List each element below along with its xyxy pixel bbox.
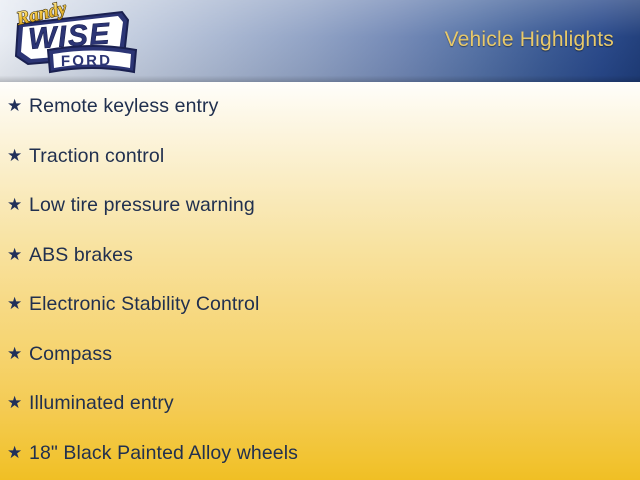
randy-wise-ford-logo[interactable]: WISE Randy FORD xyxy=(4,0,144,82)
highlight-label: Compass xyxy=(29,345,112,365)
list-item: ★ Electronic Stability Control xyxy=(0,280,640,330)
list-item: ★ Remote keyless entry xyxy=(0,82,640,132)
vehicle-highlights-list: ★ Remote keyless entry ★ Traction contro… xyxy=(0,82,640,478)
highlight-label: ABS brakes xyxy=(29,246,133,266)
list-item: ★ 18" Black Painted Alloy wheels xyxy=(0,429,640,479)
star-icon: ★ xyxy=(7,196,29,213)
page-title: Vehicle Highlights xyxy=(445,28,614,52)
highlight-label: Traction control xyxy=(29,147,164,167)
highlight-label: 18" Black Painted Alloy wheels xyxy=(29,444,298,464)
star-icon: ★ xyxy=(7,345,29,362)
star-icon: ★ xyxy=(7,295,29,312)
highlight-label: Illuminated entry xyxy=(29,394,174,414)
list-item: ★ ABS brakes xyxy=(0,231,640,281)
star-icon: ★ xyxy=(7,444,29,461)
page-header: WISE Randy FORD Vehicle Highlights xyxy=(0,0,640,82)
highlight-label: Remote keyless entry xyxy=(29,97,219,117)
list-item: ★ Traction control xyxy=(0,132,640,182)
star-icon: ★ xyxy=(7,147,29,164)
svg-text:FORD: FORD xyxy=(61,52,113,70)
highlight-label: Electronic Stability Control xyxy=(29,295,259,315)
highlights-panel: ★ Remote keyless entry ★ Traction contro… xyxy=(0,82,640,480)
logo-ford-banner: FORD xyxy=(48,46,136,72)
star-icon: ★ xyxy=(7,246,29,263)
highlight-label: Low tire pressure warning xyxy=(29,196,255,216)
list-item: ★ Low tire pressure warning xyxy=(0,181,640,231)
list-item: ★ Compass xyxy=(0,330,640,380)
vehicle-highlights-page: WISE Randy FORD Vehicle Highlights ★ Rem… xyxy=(0,0,640,480)
list-item: ★ Illuminated entry xyxy=(0,379,640,429)
star-icon: ★ xyxy=(7,394,29,411)
star-icon: ★ xyxy=(7,97,29,114)
